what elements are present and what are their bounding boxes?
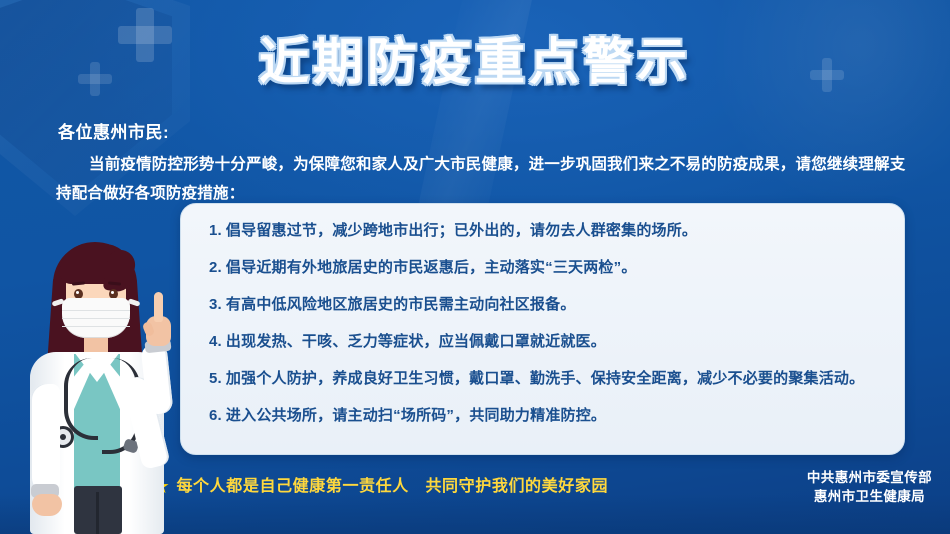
pants-seam [96, 492, 99, 534]
list-item-text: 倡导近期有外地旅居史的市民返惠后，主动落实“三天两检”。 [226, 257, 878, 279]
doctor-illustration [8, 234, 193, 534]
list-item-number: 6. [209, 405, 222, 427]
list-item-number: 2. [209, 257, 222, 279]
salutation: 各位惠州市民: [58, 118, 169, 143]
list-item: 3. 有高中低风险地区旅居史的市民需主动向社区报备。 [209, 294, 878, 316]
hand-left [32, 494, 62, 516]
attribution-line-1: 中共惠州市委宣传部 [807, 468, 932, 487]
mask-pleat [62, 318, 130, 319]
list-item: 4. 出现发热、干咳、乏力等症状，应当佩戴口罩就近就医。 [209, 331, 878, 353]
mask-pleat [62, 326, 130, 327]
list-item: 2. 倡导近期有外地旅居史的市民返惠后，主动落实“三天两检”。 [209, 257, 878, 279]
face-mask-icon [62, 298, 130, 338]
attribution: 中共惠州市委宣传部 惠州市卫生健康局 [807, 468, 932, 506]
list-item-number: 3. [209, 294, 222, 316]
list-item-number: 5. [209, 368, 222, 390]
arm-left [30, 384, 60, 492]
pointing-finger-icon [154, 292, 163, 322]
rules-panel: 1. 倡导留惠过节，减少跨地市出行；已外出的，请勿去人群密集的场所。 2. 倡导… [180, 203, 905, 455]
attribution-line-2: 惠州市卫生健康局 [807, 487, 932, 506]
epidemic-prevention-poster: 近期防疫重点警示 各位惠州市民: 当前疫情防控形势十分严峻，为保障您和家人及广大… [0, 0, 950, 534]
page-title: 近期防疫重点警示 [0, 22, 950, 94]
list-item-number: 4. [209, 331, 222, 353]
list-item-text: 倡导留惠过节，减少跨地市出行；已外出的，请勿去人群密集的场所。 [226, 220, 878, 242]
list-item: 1. 倡导留惠过节，减少跨地市出行；已外出的，请勿去人群密集的场所。 [209, 220, 878, 242]
intro-paragraph: 当前疫情防控形势十分严峻，为保障您和家人及广大市民健康，进一步巩固我们来之不易的… [56, 150, 918, 208]
list-item: 6. 进入公共场所，请主动扫“场所码”，共同助力精准防控。 [209, 405, 878, 427]
slogan-text: 每个人都是自己健康第一责任人 共同守护我们的美好家园 [176, 478, 608, 495]
list-item-text: 加强个人防护，养成良好卫生习惯，戴口罩、勤洗手、保持安全距离，减少不必要的聚集活… [226, 368, 878, 390]
list-item-number: 1. [209, 220, 222, 242]
mask-pleat [62, 310, 130, 311]
list-item-text: 出现发热、干咳、乏力等症状，应当佩戴口罩就近就医。 [226, 331, 878, 353]
list-item-text: 进入公共场所，请主动扫“场所码”，共同助力精准防控。 [226, 405, 878, 427]
list-item: 5. 加强个人防护，养成良好卫生习惯，戴口罩、勤洗手、保持安全距离，减少不必要的… [209, 368, 878, 390]
list-item-text: 有高中低风险地区旅居史的市民需主动向社区报备。 [226, 294, 878, 316]
